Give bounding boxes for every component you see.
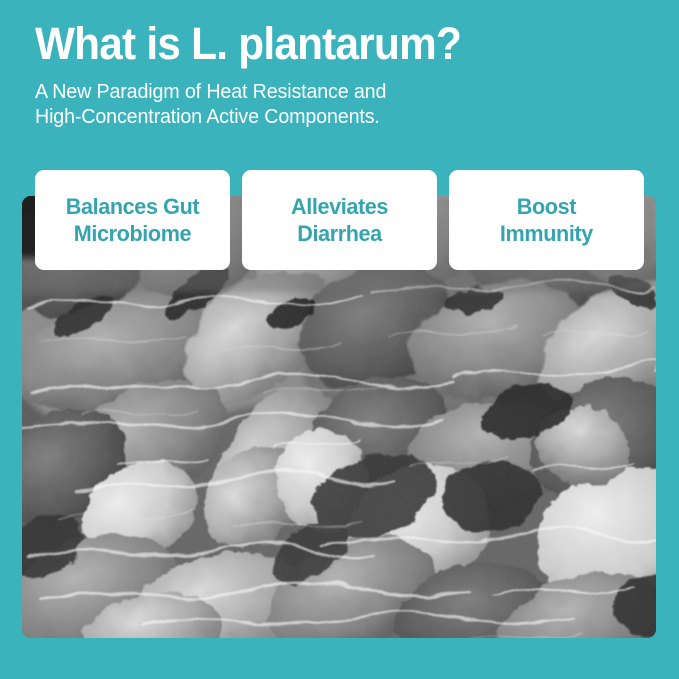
feature-card-balances-gut-microbiome[interactable]: Balances Gut Microbiome <box>35 170 230 270</box>
feature-card-label: Boost Immunity <box>500 193 593 247</box>
feature-card-label-line-2: Diarrhea <box>291 220 388 247</box>
feature-card-label: Balances Gut Microbiome <box>66 193 199 247</box>
subtitle-line-2: High-Concentration Active Components. <box>35 104 621 129</box>
feature-card-label-line-2: Immunity <box>500 220 593 247</box>
feature-card-boost-immunity[interactable]: Boost Immunity <box>449 170 644 270</box>
feature-card-label-line-1: Alleviates <box>291 193 388 220</box>
page-title: What is L. plantarum? <box>35 18 608 70</box>
header-block: What is L. plantarum? A New Paradigm of … <box>35 18 645 129</box>
feature-card-label: Alleviates Diarrhea <box>291 193 388 247</box>
product-infographic-poster: What is L. plantarum? A New Paradigm of … <box>0 0 679 679</box>
feature-card-row: Balances Gut Microbiome Alleviates Diarr… <box>35 170 644 270</box>
feature-card-alleviates-diarrhea[interactable]: Alleviates Diarrhea <box>242 170 437 270</box>
feature-card-label-line-1: Balances Gut <box>66 193 199 220</box>
feature-card-label-line-1: Boost <box>500 193 593 220</box>
feature-card-label-line-2: Microbiome <box>66 220 199 247</box>
subtitle-line-1: A New Paradigm of Heat Resistance and <box>35 79 621 104</box>
page-subtitle: A New Paradigm of Heat Resistance and Hi… <box>35 79 621 129</box>
